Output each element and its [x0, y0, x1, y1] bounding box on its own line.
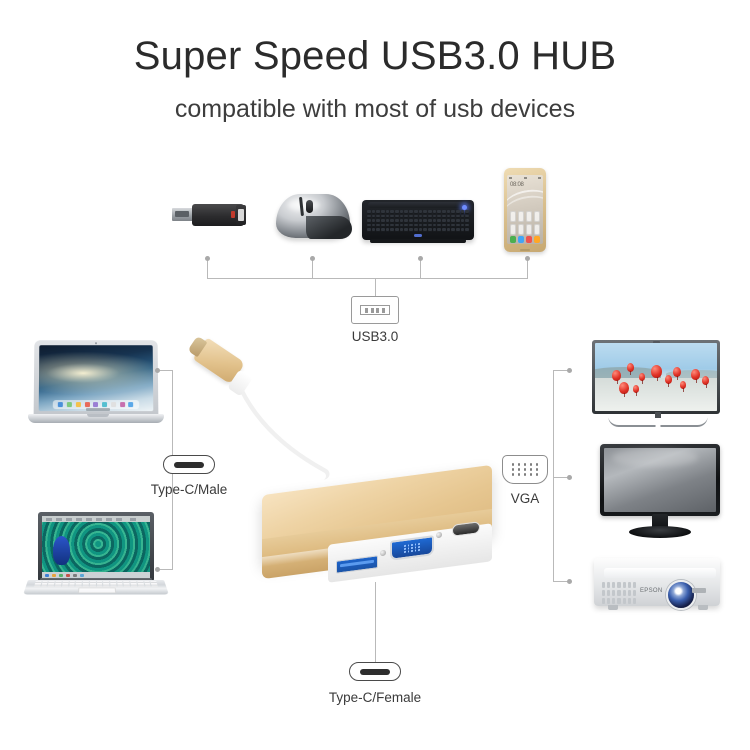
phone-dock	[510, 236, 540, 243]
top-bracket-dot-3	[418, 256, 423, 261]
macbook-screen	[39, 345, 154, 411]
page-subtitle: compatible with most of usb devices	[0, 95, 750, 124]
tv-balloon	[633, 385, 639, 393]
type-c-female-label: Type-C/Female	[315, 690, 435, 705]
vga-port-icon	[502, 455, 548, 484]
device-surface-book-laptop	[28, 512, 168, 608]
phone-status-bar	[509, 176, 541, 180]
flash-drive-connector	[172, 208, 194, 221]
tv-balloon	[665, 375, 672, 384]
projector-foot-left	[608, 605, 618, 610]
monitor-frame	[600, 444, 720, 516]
phone-clock: 08:08	[510, 182, 524, 188]
device-television	[588, 340, 728, 430]
tv-balloon	[639, 373, 645, 381]
keyboard-base	[370, 239, 466, 243]
tv-balloon	[627, 363, 634, 372]
device-usb-flash-drive	[170, 198, 256, 238]
vga-label: VGA	[485, 491, 565, 506]
top-bracket-drop	[375, 278, 376, 296]
keyboard-logo-glow	[414, 234, 422, 237]
top-bracket-dot-4	[525, 256, 530, 261]
device-gaming-keyboard	[362, 196, 474, 244]
monitor-stand-base	[629, 526, 691, 538]
top-bracket-stem-3	[420, 258, 421, 279]
surface-trackpad	[78, 588, 116, 593]
phone-app-grid	[510, 211, 540, 235]
usb-a-port-icon	[351, 296, 399, 324]
projector-vent	[602, 582, 636, 604]
tv-frame	[592, 340, 720, 414]
usb-c-hub-device	[262, 480, 492, 576]
macbook-lid	[34, 340, 159, 416]
type-c-female-port-icon	[349, 662, 401, 681]
left-bracket-arm-bottom	[158, 569, 173, 570]
mouse-body	[276, 194, 350, 238]
top-bracket-dot-2	[310, 256, 315, 261]
monitor-glare	[612, 448, 698, 467]
usb3-label: USB3.0	[315, 329, 435, 344]
phone-home-button	[520, 249, 530, 251]
keyboard-keys	[367, 210, 469, 232]
right-bracket-rail	[553, 370, 554, 582]
flash-drive-cap	[236, 205, 246, 225]
right-bracket-dot-top	[567, 368, 572, 373]
macbook-webcam	[95, 342, 97, 344]
mouse-highlight	[288, 199, 320, 211]
mouse-scroll-wheel	[306, 200, 313, 213]
projector-body: EPSON	[594, 558, 720, 606]
tv-balloon	[691, 369, 700, 380]
flash-drive-led	[231, 211, 235, 218]
top-bracket-stem-1	[207, 258, 208, 279]
top-bracket-dot-1	[205, 256, 210, 261]
top-bracket-stem-4	[527, 258, 528, 279]
projector-port	[692, 588, 706, 593]
left-bracket-arm-top	[158, 370, 173, 371]
phone-body: 08:08	[504, 168, 546, 252]
device-computer-monitor	[592, 444, 728, 540]
device-macbook-air-laptop	[28, 340, 168, 432]
projector-top-panel	[604, 568, 716, 578]
device-projector: EPSON	[590, 550, 726, 620]
infographic-canvas: Super Speed USB3.0 HUB compatible with m…	[0, 0, 750, 750]
page-title: Super Speed USB3.0 HUB	[0, 34, 750, 79]
keyboard-top-strip	[368, 202, 468, 208]
mouse-side-panel	[306, 216, 352, 239]
right-bracket-dot-bottom	[567, 579, 572, 584]
projector-foot-right	[698, 605, 708, 610]
macbook-brand-mark	[86, 408, 110, 411]
top-bracket-stem-2	[312, 258, 313, 279]
tv-screen	[595, 343, 717, 411]
tv-scene-ground	[595, 378, 717, 411]
right-bracket-dot-middle	[567, 475, 572, 480]
type-c-male-port-icon	[163, 455, 215, 474]
left-bracket-dot-bottom	[155, 567, 160, 572]
surface-keyboard-base	[23, 580, 169, 595]
type-c-plug-tip	[187, 336, 207, 358]
surface-lid	[38, 512, 154, 582]
surface-wallpaper-peacock	[42, 522, 150, 572]
macbook-notch	[87, 414, 109, 417]
projector-brand-label: EPSON	[640, 588, 663, 594]
surface-screen	[42, 516, 150, 578]
projector-lens	[666, 580, 696, 610]
left-bracket-dot-top	[155, 368, 160, 373]
device-smartphone: 08:08	[496, 168, 554, 258]
device-wireless-mouse	[272, 192, 356, 242]
tv-stand-leg-left	[608, 416, 657, 427]
tv-balloon	[612, 370, 621, 381]
top-bracket-rail	[207, 278, 527, 279]
phone-screen: 08:08	[507, 175, 543, 244]
tv-balloon	[619, 382, 629, 394]
tv-stand-leg-right	[660, 416, 709, 427]
keyboard-body	[362, 200, 474, 240]
bottom-connector-line	[375, 582, 376, 662]
surface-keys	[34, 581, 158, 587]
monitor-screen	[604, 448, 716, 512]
